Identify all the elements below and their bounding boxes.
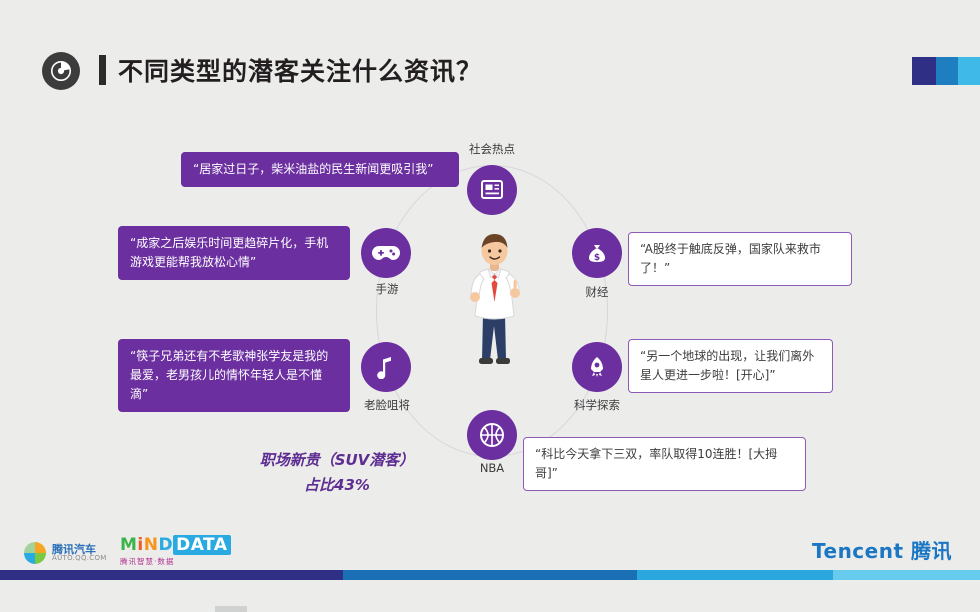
music-note-icon	[375, 355, 397, 379]
node-label-game: 手游	[332, 281, 442, 297]
bottom-notch	[215, 606, 247, 612]
footer-color-strip	[0, 570, 980, 580]
header-square-2	[936, 57, 958, 85]
slide-canvas: 不同类型的潜客关注什么资讯？	[0, 0, 980, 612]
money-bag-icon: $	[585, 241, 609, 265]
callout-social: “居家过日子，柴米油盐的民生新闻更吸引我”	[181, 152, 459, 187]
rocket-icon	[585, 355, 609, 379]
strip-segment-3	[637, 570, 833, 580]
segment-caption: 职场新贵（SUV潜客） 占比43%	[222, 448, 452, 498]
callout-game: “成家之后娱乐时间更趋碎片化，手机游戏更能帮我放松心情”	[118, 226, 350, 280]
segment-caption-line2: 占比43%	[222, 473, 452, 498]
node-social[interactable]	[467, 165, 517, 215]
basketball-icon	[479, 422, 505, 448]
segment-caption-line1: 职场新贵（SUV潜客）	[222, 448, 452, 473]
auto-qq-logo: 腾讯汽车 AUTO.QQ.COM	[24, 542, 107, 564]
mind-word-data: DATA	[173, 535, 230, 555]
mind-data-logo: MiNDDATA 腾讯智慧·数据	[120, 536, 231, 567]
mind-letter-d: D	[158, 535, 173, 555]
strip-segment-4	[833, 570, 980, 580]
header-square-3	[958, 57, 980, 85]
header-square-1	[912, 57, 936, 85]
node-nba[interactable]	[467, 410, 517, 460]
callout-finance: “A股终于触底反弹，国家队来救市了！”	[628, 232, 852, 286]
auto-logo-sub: AUTO.QQ.COM	[52, 555, 107, 562]
title-accent-bar	[99, 55, 106, 85]
node-label-finance: 财经	[545, 284, 649, 300]
node-karaoke[interactable]	[361, 342, 411, 392]
node-game[interactable]	[361, 228, 411, 278]
young-businessman-illustration	[455, 228, 535, 368]
camera-shutter-icon	[42, 52, 80, 90]
tencent-logo: Tencent 腾讯	[812, 535, 952, 564]
gamepad-icon	[372, 243, 400, 263]
callout-nba: “科比今天拿下三双，率队取得10连胜！[大拇哥]”	[523, 437, 806, 491]
strip-segment-1	[0, 570, 343, 580]
callout-science: “另一个地球的出现，让我们离外星人更进一步啦！[开心]”	[628, 339, 833, 393]
strip-segment-2	[343, 570, 637, 580]
qq-auto-swirl-icon	[24, 542, 46, 564]
mind-subtitle: 腾讯智慧·数据	[120, 556, 231, 567]
page-title: 不同类型的潜客关注什么资讯？	[118, 52, 482, 88]
node-label-science: 科学探索	[540, 397, 654, 413]
svg-text:$: $	[594, 253, 600, 263]
node-science[interactable]	[572, 342, 622, 392]
newspaper-icon	[479, 177, 505, 203]
callout-karaoke: “筷子兄弟还有不老歌神张学友是我的最爱，老男孩儿的情怀年轻人是不懂滴”	[118, 339, 350, 412]
mind-letter-n: N	[144, 535, 159, 555]
node-finance[interactable]: $	[572, 228, 622, 278]
mind-letter-m: M	[120, 535, 137, 555]
